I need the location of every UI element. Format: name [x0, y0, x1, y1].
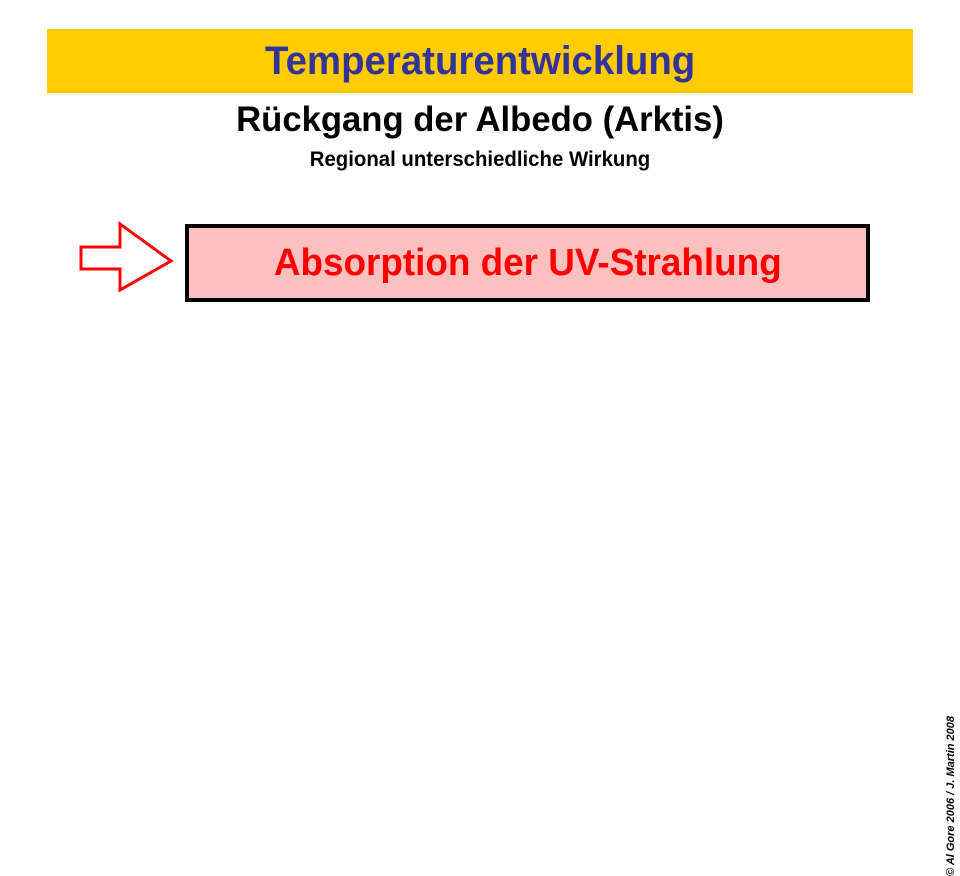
statement-text: Absorption der UV-Strahlung — [274, 242, 782, 284]
slide-title: Temperaturentwicklung — [265, 39, 695, 83]
heading-primary: Rückgang der Albedo (Arktis) — [5, 100, 955, 140]
credit-note: © Al Gore 2006 / J. Martin 2008 — [945, 716, 958, 876]
credit-text: © Al Gore 2006 / J. Martin 2008 — [945, 716, 958, 876]
right-arrow-icon — [78, 221, 174, 293]
statement-box: Absorption der UV-Strahlung — [185, 224, 870, 302]
title-banner: Temperaturentwicklung — [47, 29, 913, 93]
heading-secondary: Regional unterschiedliche Wirkung — [14, 147, 945, 172]
slide-canvas: Temperaturentwicklung Rückgang der Albed… — [0, 0, 960, 720]
